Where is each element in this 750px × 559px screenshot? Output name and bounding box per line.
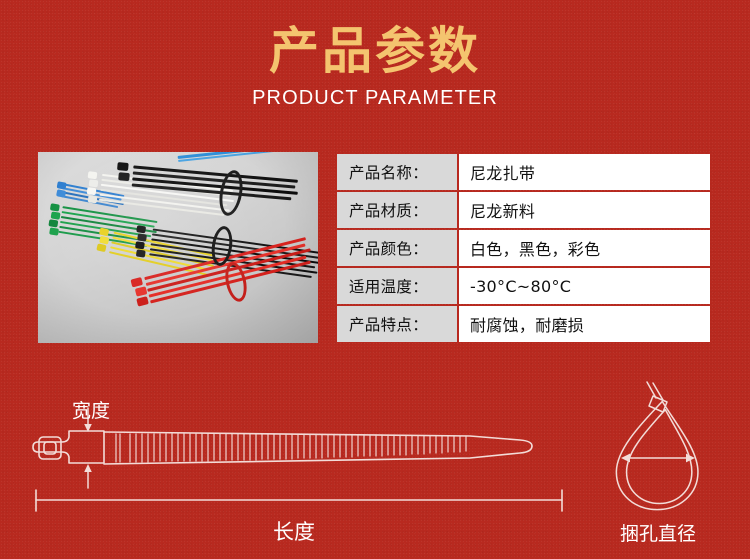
photo-vignette (38, 152, 318, 343)
spec-label: 产品名称： (337, 154, 457, 190)
spec-value: -30°C~80°C (457, 268, 710, 304)
table-row: 产品特点： 耐腐蚀，耐磨损 (337, 306, 710, 342)
length-label: 长度 (273, 521, 315, 543)
spec-label: 产品颜色： (337, 230, 457, 266)
spec-value: 白色，黑色，彩色 (457, 230, 710, 266)
table-row: 产品名称： 尼龙扎带 (337, 154, 710, 190)
spec-value: 耐腐蚀，耐磨损 (457, 306, 710, 342)
diameter-label: 捆孔直径 (620, 523, 696, 545)
product-photo (38, 152, 318, 343)
table-row: 产品材质： 尼龙新料 (337, 192, 710, 228)
spec-value: 尼龙扎带 (457, 154, 710, 190)
table-row: 适用温度： -30°C~80°C (337, 268, 710, 304)
width-label: 宽度 (72, 400, 110, 422)
spec-label: 产品特点： (337, 306, 457, 342)
page-header: 产品参数 PRODUCT PARAMETER (0, 0, 750, 110)
page-title: 产品参数 (0, 22, 750, 80)
page-subtitle: PRODUCT PARAMETER (0, 86, 750, 110)
dimension-diagrams: 宽度 长度 捆孔直径 (0, 380, 750, 559)
product-parameter-page: 产品参数 PRODUCT PARAMETER (0, 0, 750, 559)
spec-table: 产品名称： 尼龙扎带 产品材质： 尼龙新料 产品颜色： 白色，黑色，彩色 适用温… (337, 154, 710, 342)
table-row: 产品颜色： 白色，黑色，彩色 (337, 230, 710, 266)
spec-value: 尼龙新料 (457, 192, 710, 228)
spec-label: 产品材质： (337, 192, 457, 228)
spec-label: 适用温度： (337, 268, 457, 304)
